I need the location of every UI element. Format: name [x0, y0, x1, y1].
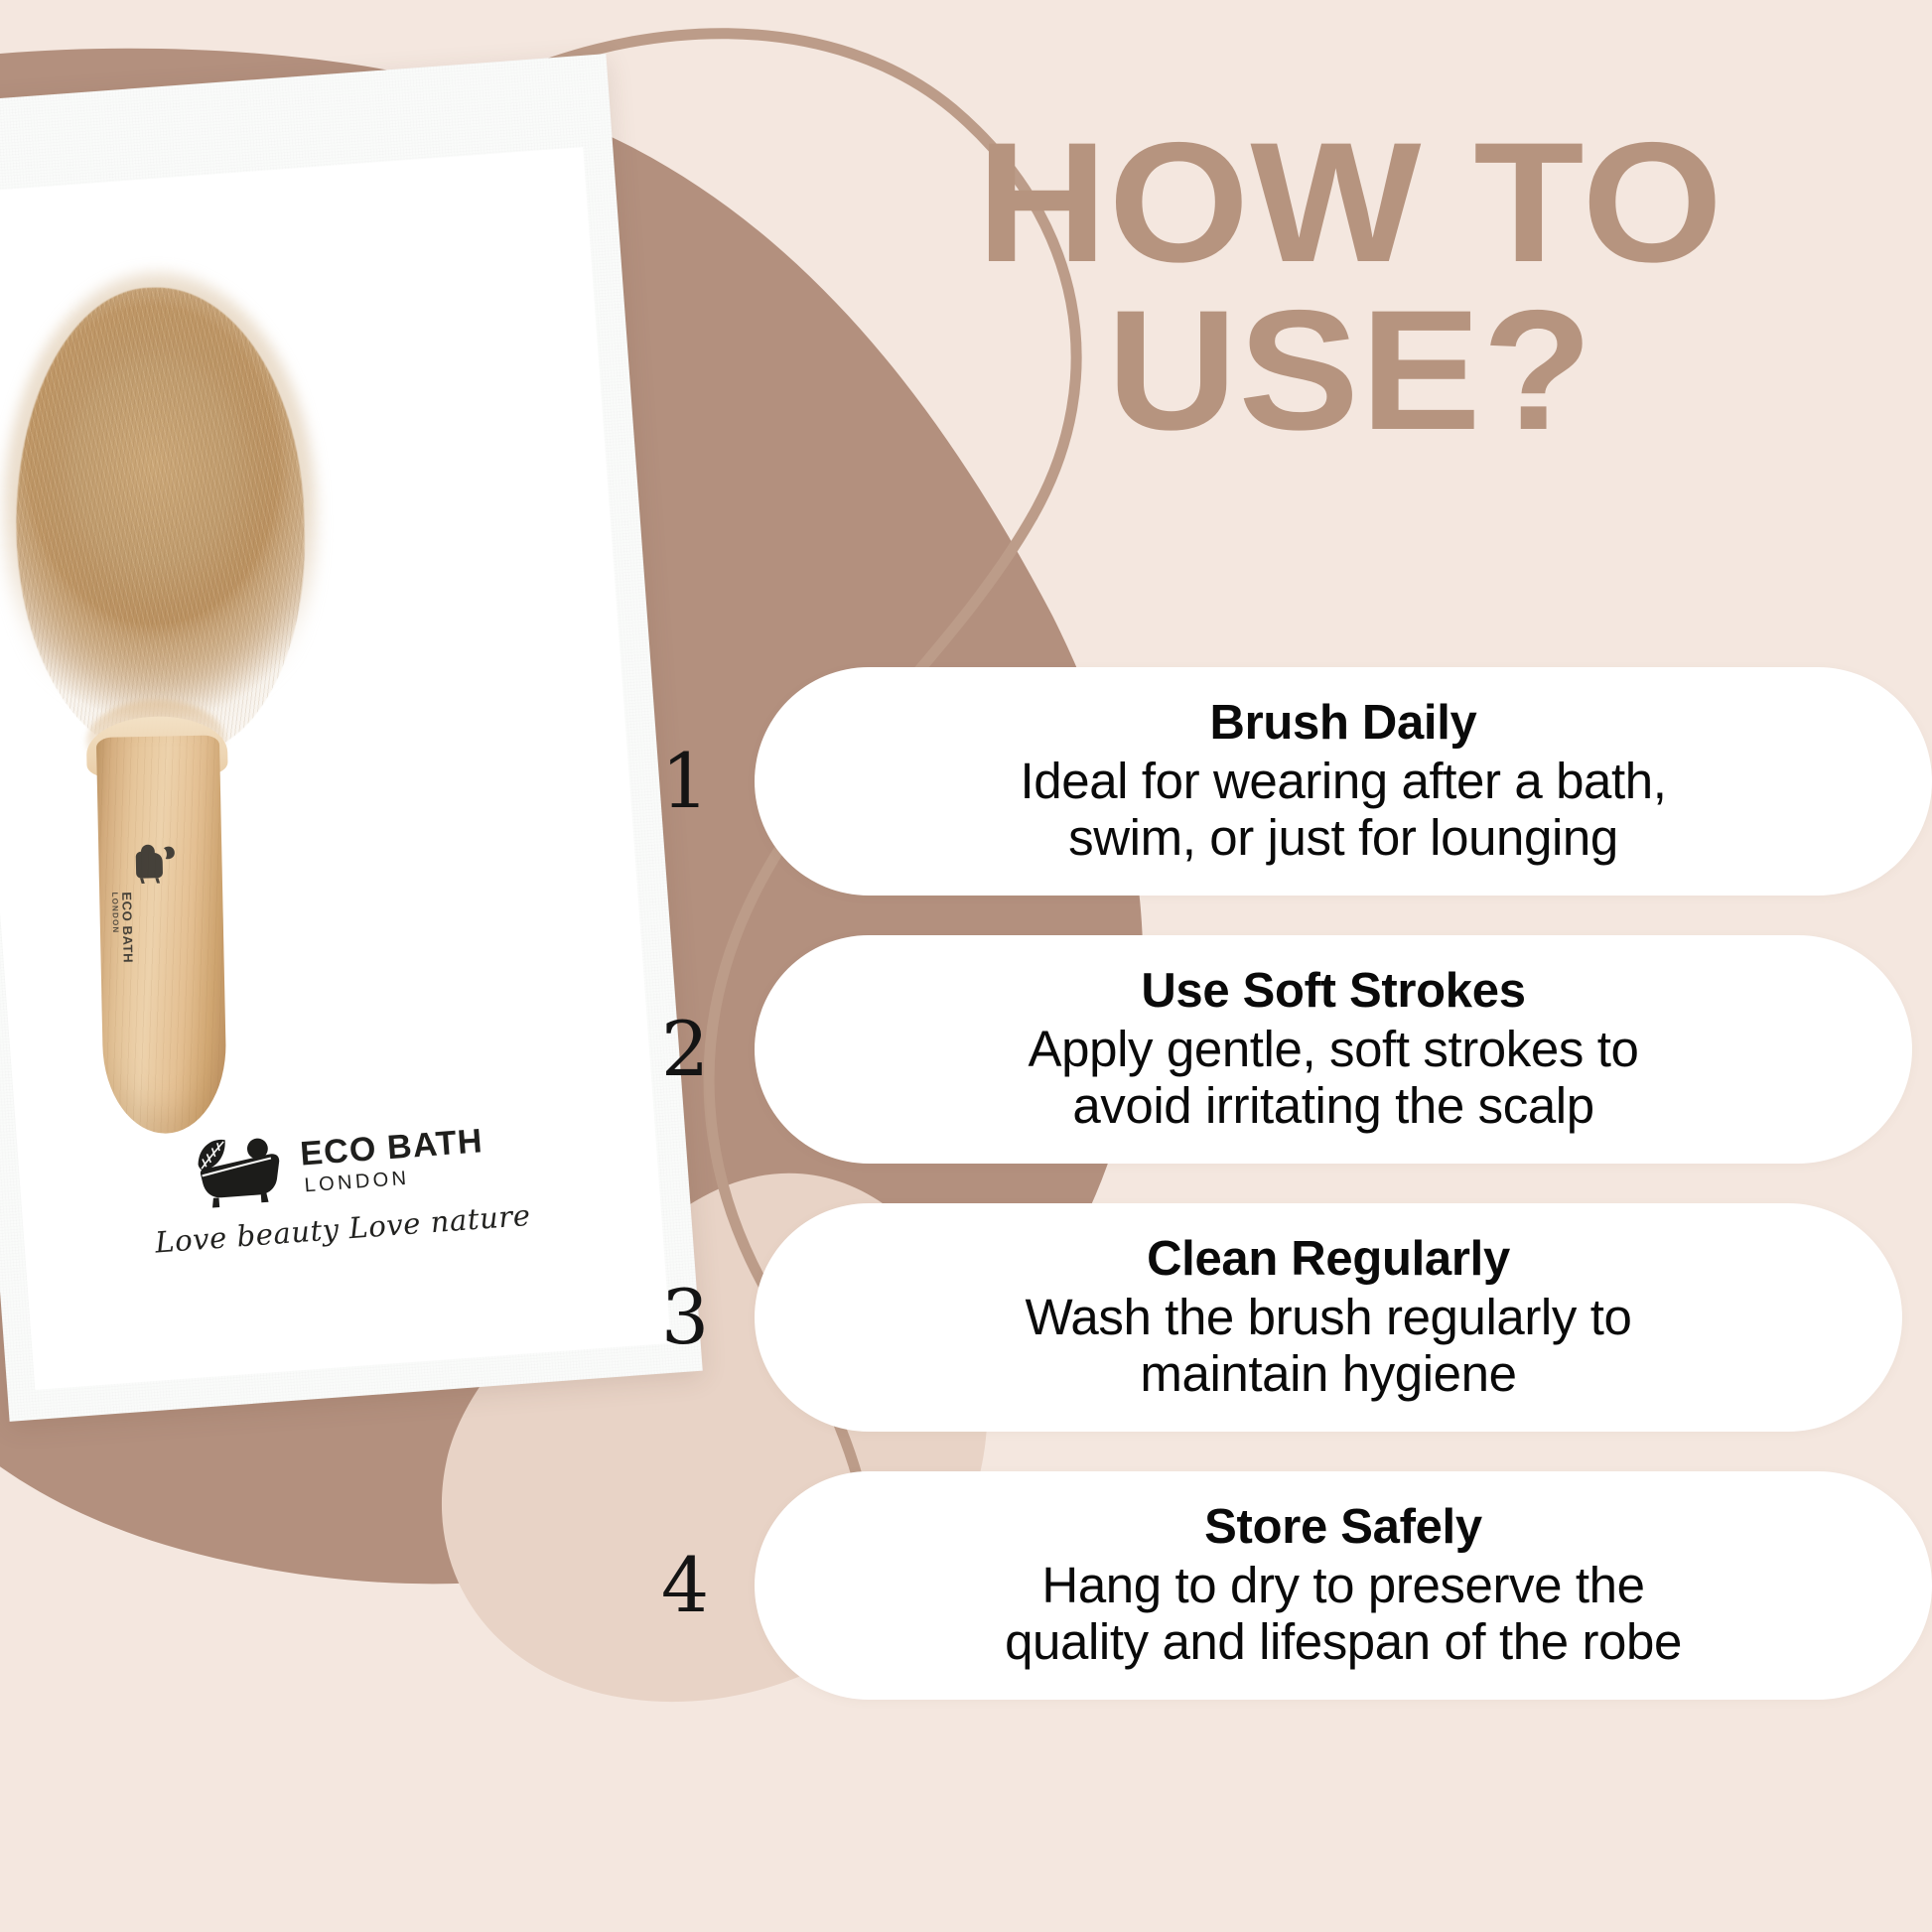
step-number: 1 [645, 744, 725, 819]
step-card[interactable]: Clean Regularly Wash the brush regularly… [755, 1203, 1902, 1432]
handle-engraving: ECO BATH LONDON [114, 843, 207, 1014]
infographic-root: ECO BATH LONDON [0, 0, 1932, 1932]
step-item: 1 Brush Daily Ideal for wearing after a … [755, 667, 1932, 896]
bathtub-icon [130, 843, 177, 884]
step-title: Clean Regularly [1147, 1233, 1510, 1287]
step-description: Apply gentle, soft strokes to avoid irri… [1029, 1021, 1639, 1134]
step-description-line: avoid irritating the scalp [1029, 1077, 1639, 1134]
page-title: HOW TO USE? [776, 119, 1923, 454]
brush-image: ECO BATH LONDON [3, 284, 348, 1145]
step-description: Ideal for wearing after a bath, swim, or… [1021, 753, 1667, 866]
step-number: 4 [645, 1548, 725, 1623]
step-card[interactable]: Brush Daily Ideal for wearing after a ba… [755, 667, 1932, 896]
handle-brand-name: ECO BATH [120, 892, 135, 963]
photo-white-field: ECO BATH LONDON [0, 147, 671, 1390]
page-title-line-2: USE? [776, 287, 1923, 455]
step-description-line: swim, or just for lounging [1021, 809, 1667, 866]
page-title-line-1: HOW TO [977, 107, 1724, 298]
step-number: 2 [645, 1012, 725, 1087]
step-item: 3 Clean Regularly Wash the brush regular… [755, 1203, 1932, 1432]
step-description-line: Ideal for wearing after a bath, [1021, 753, 1667, 809]
brand-logo-text: ECO BATH LONDON [299, 1124, 485, 1195]
handle-brand-city: LONDON [110, 893, 120, 934]
step-description-line: quality and lifespan of the robe [1005, 1613, 1682, 1670]
step-item: 2 Use Soft Strokes Apply gentle, soft st… [755, 935, 1932, 1164]
step-description-line: Apply gentle, soft strokes to [1029, 1021, 1639, 1077]
step-description-line: Hang to dry to preserve the [1005, 1557, 1682, 1613]
step-title: Brush Daily [1210, 697, 1477, 751]
steps-list: 1 Brush Daily Ideal for wearing after a … [755, 667, 1932, 1739]
step-title: Store Safely [1204, 1501, 1482, 1555]
step-item: 4 Store Safely Hang to dry to preserve t… [755, 1471, 1932, 1700]
step-number: 3 [645, 1280, 725, 1355]
step-description: Hang to dry to preserve the quality and … [1005, 1557, 1682, 1670]
bathtub-leaf-logo-icon [190, 1131, 290, 1211]
step-description-line: Wash the brush regularly to [1026, 1289, 1632, 1345]
product-photo: ECO BATH LONDON [0, 54, 703, 1422]
step-card[interactable]: Use Soft Strokes Apply gentle, soft stro… [755, 935, 1912, 1164]
photo-paper-backdrop: ECO BATH LONDON [0, 54, 703, 1422]
step-title: Use Soft Strokes [1141, 965, 1525, 1019]
step-description: Wash the brush regularly to maintain hyg… [1026, 1289, 1632, 1402]
step-description-line: maintain hygiene [1026, 1345, 1632, 1402]
step-card[interactable]: Store Safely Hang to dry to preserve the… [755, 1471, 1932, 1700]
